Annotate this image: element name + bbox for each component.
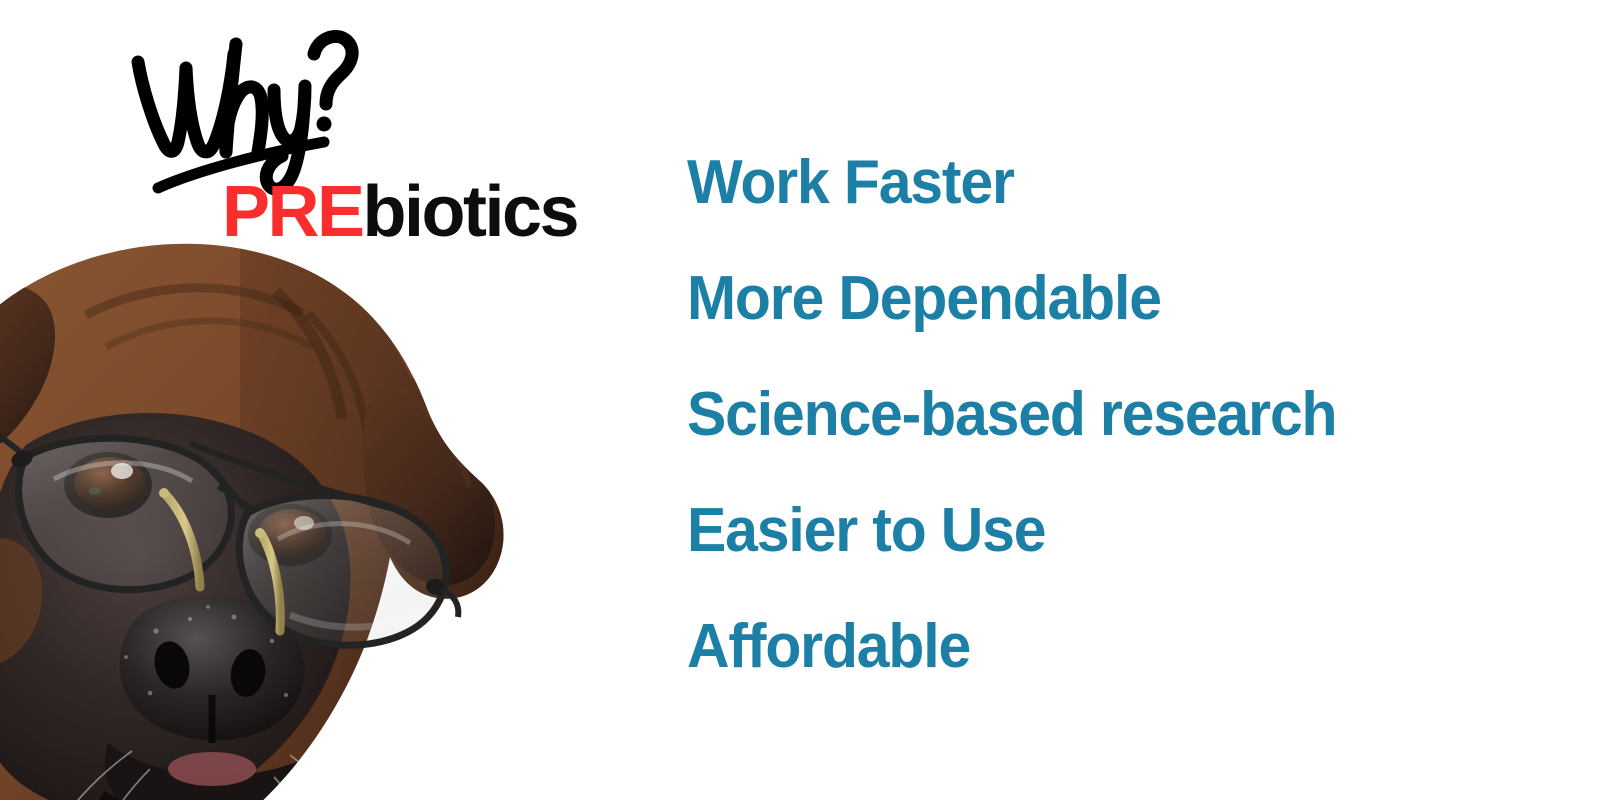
- wordmark-prefix: PRE: [222, 172, 363, 252]
- benefit-item-4: Easier to Use: [687, 500, 1504, 616]
- wordmark-suffix: biotics: [363, 172, 578, 252]
- benefit-item-2: More Dependable: [687, 268, 1504, 384]
- dog-photo: [0, 195, 520, 800]
- benefits-list: Work Faster More Dependable Science-base…: [687, 152, 1547, 678]
- prebiotics-wordmark: PREbiotics: [222, 176, 577, 248]
- benefit-item-5: Affordable: [687, 616, 1504, 678]
- benefit-item-1: Work Faster: [687, 152, 1504, 268]
- poster-canvas: PREbiotics Work Faster More Dependable S…: [0, 0, 1600, 800]
- benefit-item-3: Science-based research: [687, 384, 1504, 500]
